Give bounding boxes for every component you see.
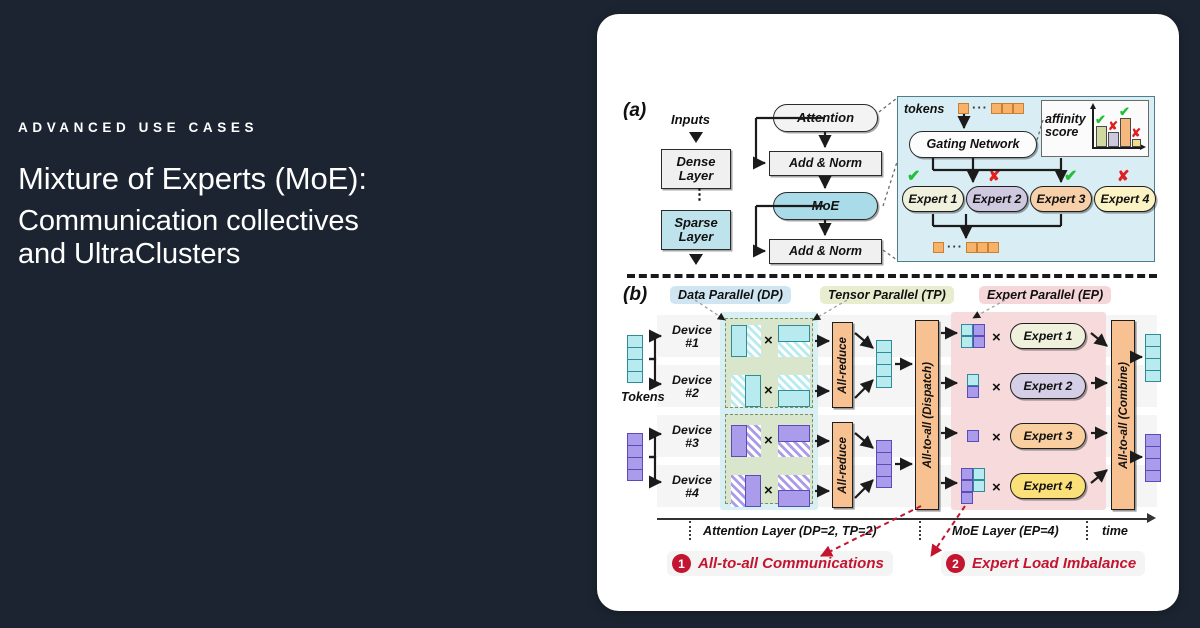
expert-4-cross-icon: ✘ [1117,169,1130,184]
timeline-segment-2-label: MoE Layer (EP=4) [952,524,1059,538]
slide-canvas: Advanced use cases Mixture of Experts (M… [0,0,1200,628]
expert-2-input-tiles [967,374,979,398]
tokens-ellipsis-icon: ··· [972,100,988,115]
multiply-icon: × [992,329,1001,346]
timeline-tick-2 [919,521,921,540]
all-to-all-dispatch-bar: All-to-all (Dispatch) [915,320,939,510]
tokens-label-a: tokens [904,102,944,116]
timeline-tick-3 [1086,521,1088,540]
expert-4-input-tiles [961,468,985,504]
tokens-cyan-divider [627,347,643,348]
figure-body: (a) Inputs Dense Layer ⋮ Sparse Layer [621,28,1161,598]
all-reduce-label-2: All-reduce [836,437,849,494]
output-purple-div [1145,470,1161,471]
affinity-label-line2: score [1045,126,1086,139]
affinity-cross-icon-4: ✘ [1131,127,1141,139]
affinity-check-icon-3: ✔ [1119,105,1130,118]
expert-2-pill-a: Expert 2 [966,186,1028,212]
tp-vector-purple-div [876,464,892,465]
affinity-bar-2 [1108,132,1119,147]
timeline-arrow-icon [1147,513,1156,523]
expert-1-pill-b: Expert 1 [1010,323,1086,349]
expert-1-check-icon: ✔ [907,169,920,185]
token-cell [1002,103,1013,114]
output-token-cell [933,242,944,253]
sparse-layer-line2: Layer [674,230,717,244]
label-expert-parallel: Expert Parallel (EP) [979,286,1111,304]
timeline-axis-label: time [1102,524,1128,538]
left-text-panel: Advanced use cases Mixture of Experts (M… [18,120,558,271]
all-to-all-dispatch-label: All-to-all (Dispatch) [921,362,934,468]
device-1-line2: #1 [665,337,719,350]
output-tokens-ellipsis-icon: ··· [947,239,963,254]
token-cell [991,103,1002,114]
callout-1-text: All-to-all Communications [698,555,884,572]
dense-layer-line1: Dense [676,155,715,169]
affinity-y-axis [1092,108,1094,149]
dp-matrix-b4-hatch [778,475,810,491]
output-token-cell [966,242,977,253]
device-label-3: Device #3 [665,424,719,450]
panel-a-tag: (a) [623,100,646,122]
multiply-icon: × [992,479,1001,496]
inputs-arrow-icon [689,132,703,143]
affinity-y-arrow-icon [1090,103,1096,109]
eyebrow-label: Advanced use cases [18,120,558,135]
affinity-score-label: affinity score [1045,113,1086,139]
dp-matrix-a3-hatch [746,425,761,457]
all-reduce-label-1: All-reduce [836,337,849,394]
tp-vector-cyan-div [876,376,892,377]
sparse-output-arrow-icon [689,254,703,265]
tokens-cyan-divider [627,371,643,372]
output-cyan-div [1145,346,1161,347]
dp-matrix-a1-hatch [746,325,761,357]
multiply-icon: × [764,432,773,449]
output-cyan-div [1145,358,1161,359]
label-data-parallel: Data Parallel (DP) [670,286,791,304]
sparse-layer-line1: Sparse [674,216,717,230]
dense-layer-line2: Layer [676,169,715,183]
affinity-x-axis [1092,147,1142,149]
device-2-line2: #2 [665,387,719,400]
label-tensor-parallel: Tensor Parallel (TP) [820,286,954,304]
expert-2-cross-icon: ✘ [988,169,1001,184]
device-label-1: Device #1 [665,324,719,350]
device-label-4: Device #4 [665,474,719,500]
subtitle-line-2: and UltraClusters [18,238,558,271]
figure-card: (a) Inputs Dense Layer ⋮ Sparse Layer [597,14,1179,611]
callout-2-text: Expert Load Imbalance [972,555,1136,572]
multiply-icon: × [764,482,773,499]
token-cell [958,103,969,114]
attention-box: Attention [773,104,878,132]
expert-3-check-icon: ✔ [1064,169,1077,185]
expert-4-pill-b: Expert 4 [1010,473,1086,499]
add-norm-box-1: Add & Norm [769,151,882,176]
device-3-line2: #3 [665,437,719,450]
device-4-line2: #4 [665,487,719,500]
all-reduce-bar-1: All-reduce [832,322,853,408]
output-token-cell [977,242,988,253]
tokens-purple-divider [627,457,643,458]
dp-matrix-a4-hatch [731,475,746,507]
all-reduce-bar-2: All-reduce [832,422,853,508]
output-purple-div [1145,446,1161,447]
moe-box: MoE [773,192,878,220]
inputs-label: Inputs [671,112,710,127]
expert-1-input-tiles [961,324,985,348]
device-label-2: Device #2 [665,374,719,400]
dp-matrix-b2-hatch [778,375,810,391]
affinity-bar-1 [1096,126,1107,147]
callout-2: 2 Expert Load Imbalance [941,551,1145,576]
tokens-label-b: Tokens [621,390,665,404]
output-purple-div [1145,458,1161,459]
expert-3-pill-b: Expert 3 [1010,423,1086,449]
subtitle-line-1: Communication collectives [18,205,558,238]
expert-2-pill-b: Expert 2 [1010,373,1086,399]
timeline-segment-1-label: Attention Layer (DP=2, TP=2) [703,524,877,538]
callout-2-number: 2 [946,554,965,573]
panel-b-tag: (b) [623,284,647,306]
expert-1-pill-a: Expert 1 [902,186,964,212]
tokens-purple-divider [627,469,643,470]
dp-matrix-b1-hatch [778,341,810,357]
timeline-tick-1 [689,521,691,540]
dense-layer-box: Dense Layer [661,149,731,189]
expert-3-input-tiles [967,430,979,442]
timeline-axis [657,518,1149,520]
gating-network-box: Gating Network [909,131,1037,158]
token-cell [1013,103,1024,114]
affinity-bar-3 [1120,118,1131,147]
all-to-all-combine-bar: All-to-all (Combine) [1111,320,1135,510]
vertical-dots-icon: ⋮ [692,192,707,198]
multiply-icon: × [992,429,1001,446]
section-divider [627,274,1157,278]
affinity-check-icon-1: ✔ [1095,113,1106,126]
all-to-all-combine-label: All-to-all (Combine) [1117,362,1130,469]
tokens-purple-divider [627,445,643,446]
tp-vector-purple-div [876,476,892,477]
add-norm-box-2: Add & Norm [769,239,882,264]
expert-4-pill-a: Expert 4 [1094,186,1156,212]
output-token-cell [988,242,999,253]
tp-vector-cyan-div [876,352,892,353]
output-cyan-div [1145,370,1161,371]
tokens-cyan-divider [627,359,643,360]
affinity-bar-4 [1132,139,1141,147]
callout-1-number: 1 [672,554,691,573]
dp-matrix-a2-hatch [731,375,746,407]
sparse-layer-box: Sparse Layer [661,210,731,250]
tp-vector-cyan-div [876,364,892,365]
page-title: Mixture of Experts (MoE): [18,161,558,198]
affinity-cross-icon-2: ✘ [1108,120,1118,132]
multiply-icon: × [992,379,1001,396]
expert-3-pill-a: Expert 3 [1030,186,1092,212]
page-subtitle: Communication collectives and UltraClust… [18,205,558,272]
multiply-icon: × [764,332,773,349]
callout-1: 1 All-to-all Communications [667,551,893,576]
multiply-icon: × [764,382,773,399]
tp-vector-purple-div [876,452,892,453]
dp-matrix-b3-hatch [778,441,810,457]
